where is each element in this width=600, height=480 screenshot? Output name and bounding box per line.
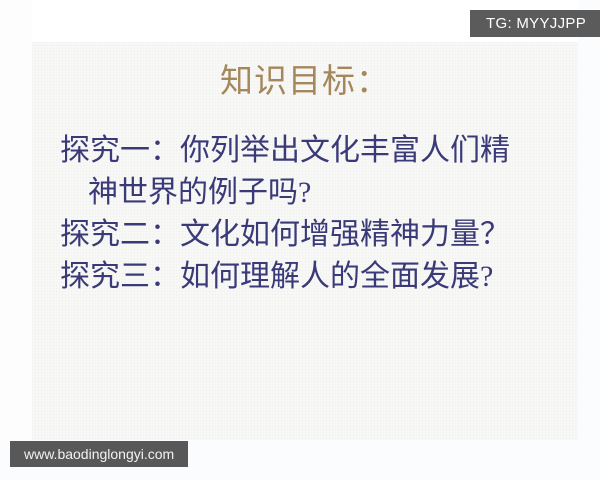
list-item: 探究二：文化如何增强精神力量？ xyxy=(60,214,578,256)
slide-root: 知识目标： 探究一：你列举出文化丰富人们精 神世界的例子吗? 探究二：文化如何增… xyxy=(0,0,600,480)
list-item: 神世界的例子吗? xyxy=(60,172,578,214)
objectives-list: 探究一：你列举出文化丰富人们精 神世界的例子吗? 探究二：文化如何增强精神力量？… xyxy=(60,130,578,298)
slide-margin-left xyxy=(0,0,32,480)
slide-content-area: 知识目标： 探究一：你列举出文化丰富人们精 神世界的例子吗? 探究二：文化如何增… xyxy=(32,42,578,440)
watermark-url: www.baodinglongyi.com xyxy=(10,441,188,467)
page-title: 知识目标： xyxy=(32,64,578,100)
tg-badge: TG: MYYJJPP xyxy=(470,10,600,37)
list-item: 探究一：你列举出文化丰富人们精 xyxy=(60,130,578,172)
list-item: 探究三：如何理解人的全面发展? xyxy=(60,256,578,298)
slide-margin-right xyxy=(578,0,600,480)
